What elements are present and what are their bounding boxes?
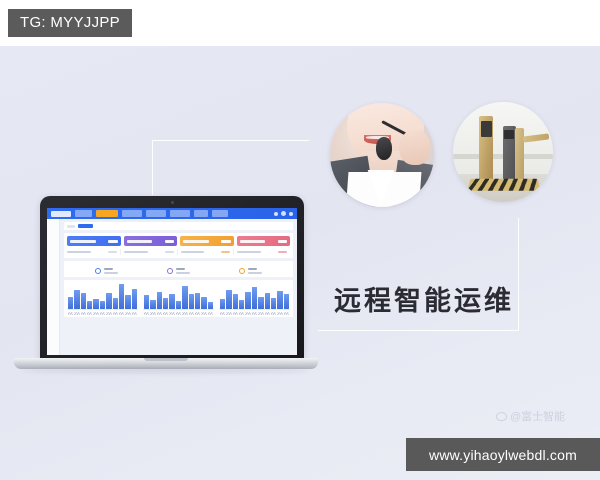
breadcrumb-active-tag[interactable] <box>78 224 93 228</box>
axis-tick-label <box>163 312 168 315</box>
chart-bar <box>113 298 118 309</box>
chart-bar <box>68 297 73 309</box>
axis-tick-label <box>233 312 238 315</box>
axis-tick-label <box>119 312 124 315</box>
equipment-photo-circle <box>453 102 553 202</box>
connector-line-left-horizontal <box>152 140 309 141</box>
chart-bar <box>182 286 187 309</box>
kpi-label <box>70 240 96 243</box>
axis-tick-label <box>144 312 149 315</box>
kpi-card-orange[interactable] <box>180 236 234 246</box>
kpi-card-blue[interactable] <box>67 236 121 246</box>
kpi-card-purple[interactable] <box>124 236 178 246</box>
connector-line-right-vertical <box>518 218 519 331</box>
axis-tick-label <box>252 312 257 315</box>
kpi-value <box>108 240 118 243</box>
weibo-logo-icon <box>496 412 507 421</box>
axis-tick-label <box>132 312 137 315</box>
bar-chart-1 <box>67 283 138 315</box>
axis-tick-label <box>277 312 282 315</box>
dashboard-body <box>47 219 297 355</box>
axis-tick-label <box>201 312 206 315</box>
chart-bar <box>252 287 257 309</box>
axis-tick-label <box>220 312 225 315</box>
axis-tick-label <box>271 312 276 315</box>
chart-1-bars <box>67 283 138 310</box>
axis-tick-label <box>150 312 155 315</box>
nav-item-5[interactable] <box>170 210 190 217</box>
chart-bar <box>239 300 244 309</box>
kpi-card-row <box>67 236 290 246</box>
sub-value <box>165 251 174 253</box>
chart-bar <box>176 301 181 309</box>
kpi-sub-cell-2 <box>124 249 178 255</box>
axis-tick-label <box>208 312 213 315</box>
chart-bar <box>226 290 231 309</box>
axis-tick-label <box>195 312 200 315</box>
chart-bar <box>125 295 130 309</box>
dashboard-navbar <box>47 208 297 219</box>
bar-chart-2 <box>143 283 214 315</box>
sub-label <box>237 251 261 253</box>
avatar[interactable] <box>281 211 286 216</box>
stats-panel <box>64 261 293 277</box>
nav-item-3[interactable] <box>122 210 142 217</box>
sub-value <box>108 251 117 253</box>
chart-bar <box>93 299 98 309</box>
axis-tick-label <box>157 312 162 315</box>
chart-bar <box>271 298 276 309</box>
kpi-card-pink[interactable] <box>237 236 291 246</box>
axis-tick-label <box>74 312 79 315</box>
kpi-subrow <box>67 249 290 255</box>
connector-line-right-horizontal <box>318 330 519 331</box>
axis-tick-label <box>189 312 194 315</box>
menu-icon[interactable] <box>289 212 293 216</box>
axis-tick-label <box>113 312 118 315</box>
connector-line-left-vertical <box>152 140 153 195</box>
stat-text <box>176 268 190 274</box>
chart-bar <box>277 291 282 309</box>
laptop-base-notch <box>144 358 188 361</box>
kpi-sub-cell-1 <box>67 249 121 255</box>
axis-tick-label <box>169 312 174 315</box>
axis-tick-label <box>176 312 181 315</box>
weibo-handle: @富士智能 <box>510 408 565 424</box>
axis-tick-label <box>245 312 250 315</box>
headset-microphone-icon <box>376 137 393 160</box>
chart-bar <box>189 294 194 309</box>
kiosk-striped-base <box>468 179 541 191</box>
axis-tick-label <box>125 312 130 315</box>
sub-label <box>67 251 91 253</box>
sub-value <box>278 251 287 253</box>
chart-bar <box>132 289 137 309</box>
slide-canvas: TG: MYYJJPP 远程智能运维 <box>0 0 600 480</box>
charts-panel <box>64 280 293 317</box>
laptop-lid <box>40 196 304 361</box>
axis-tick-label <box>87 312 92 315</box>
dashboard-logo <box>51 211 71 217</box>
axis-tick-label <box>81 312 86 315</box>
dashboard-main <box>60 219 297 355</box>
kiosk-screen-primary <box>481 121 492 137</box>
kpi-sub-cell-3 <box>181 249 235 255</box>
nav-item-4[interactable] <box>146 210 166 217</box>
donut-icon <box>95 268 101 274</box>
nav-item-1[interactable] <box>75 210 92 217</box>
chart-bar <box>265 293 270 309</box>
chart-2-bars <box>143 283 214 310</box>
navbar-right-tools <box>274 211 293 216</box>
chart-bar <box>157 292 162 309</box>
axis-tick-label <box>100 312 105 315</box>
chart-bar <box>119 284 124 309</box>
stat-group-3 <box>218 268 284 274</box>
stat-row <box>67 268 290 274</box>
axis-tick-label <box>106 312 111 315</box>
chart-bar <box>195 293 200 309</box>
nav-item-7[interactable] <box>212 210 228 217</box>
stat-group-1 <box>73 268 139 274</box>
nav-item-2-active[interactable] <box>96 210 118 217</box>
chart-1-axis <box>67 310 138 315</box>
kiosk-screen-secondary <box>504 130 514 139</box>
dashboard-sidebar <box>47 219 60 355</box>
chart-2-axis <box>143 310 214 315</box>
weibo-watermark: @富士智能 <box>496 408 565 424</box>
axis-tick-label <box>68 312 73 315</box>
webcam-icon <box>171 201 174 204</box>
chart-bar <box>74 290 79 309</box>
kpi-sub-cell-4 <box>237 249 290 255</box>
chart-bar <box>245 292 250 309</box>
axis-tick-label <box>239 312 244 315</box>
operator-photo-circle <box>330 103 434 207</box>
stat-text <box>248 268 262 274</box>
sub-label <box>181 251 205 253</box>
kpi-value <box>278 240 288 243</box>
stat-text <box>104 268 118 274</box>
chart-bar <box>169 294 174 309</box>
chart-bar <box>100 301 105 309</box>
telegram-handle-badge: TG: MYYJJPP <box>8 9 132 37</box>
sub-label <box>124 251 148 253</box>
axis-tick-label <box>258 312 263 315</box>
chart-bar <box>106 293 111 309</box>
donut-icon <box>167 268 173 274</box>
sub-value <box>221 251 230 253</box>
chart-bar <box>81 293 86 309</box>
search-icon[interactable] <box>274 212 278 216</box>
axis-tick-label <box>226 312 231 315</box>
chart-bar <box>208 302 213 309</box>
kpi-label <box>127 240 153 243</box>
kpi-value <box>221 240 231 243</box>
chart-bar <box>87 301 92 309</box>
axis-tick-label <box>284 312 289 315</box>
kpi-value <box>165 240 175 243</box>
kpi-panel <box>64 233 293 258</box>
chart-bar <box>201 297 206 309</box>
chart-bar <box>258 297 263 309</box>
stat-group-2 <box>145 268 211 274</box>
bar-chart-row <box>67 283 290 315</box>
breadcrumb-item[interactable] <box>67 225 75 228</box>
website-url-bar: www.yihaoylwebdl.com <box>406 438 600 471</box>
chart-bar <box>233 294 238 309</box>
donut-icon <box>239 268 245 274</box>
operator-hand <box>399 130 430 165</box>
page-title: 远程智能运维 <box>334 288 514 315</box>
chart-bar <box>144 295 149 309</box>
chart-bar <box>163 298 168 309</box>
chart-bar <box>220 299 225 309</box>
axis-tick-label <box>265 312 270 315</box>
kpi-label <box>183 240 209 243</box>
chart-bar <box>284 294 289 309</box>
chart-bar <box>150 300 155 309</box>
bar-chart-3 <box>219 283 290 315</box>
nav-item-6[interactable] <box>194 210 208 217</box>
axis-tick-label <box>182 312 187 315</box>
kpi-label <box>240 240 266 243</box>
breadcrumb <box>64 222 293 230</box>
chart-3-bars <box>219 283 290 310</box>
laptop-shadow <box>22 368 310 373</box>
laptop-screen <box>47 208 297 355</box>
axis-tick-label <box>93 312 98 315</box>
chart-3-axis <box>219 310 290 315</box>
